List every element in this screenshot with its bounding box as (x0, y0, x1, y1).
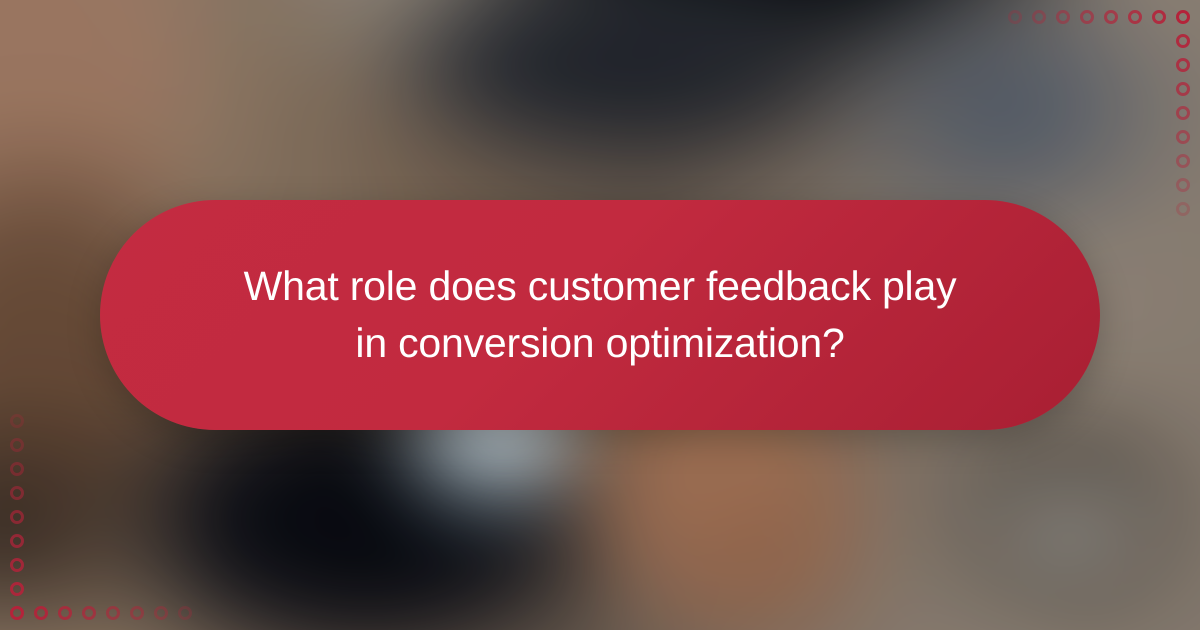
question-text: What role does customer feedback play in… (244, 258, 957, 372)
social-card-canvas: What role does customer feedback play in… (0, 0, 1200, 630)
question-card: What role does customer feedback play in… (100, 200, 1100, 430)
